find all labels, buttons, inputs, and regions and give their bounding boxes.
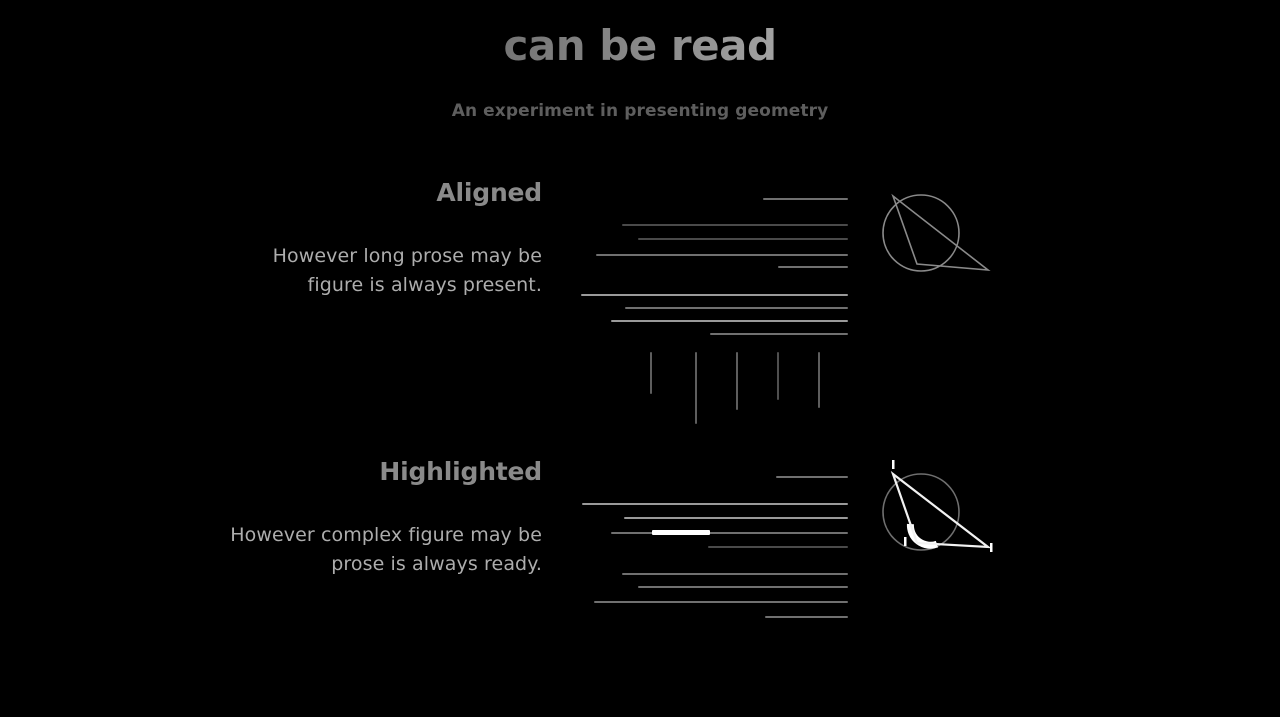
page-subtitle: An experiment in presenting geometry [0, 101, 1280, 121]
figure-highlighted [0, 457, 1280, 657]
figure-aligned [0, 178, 1280, 438]
triangle-shape [893, 474, 988, 547]
page-title: can be read [0, 23, 1280, 69]
circle-shape [883, 474, 959, 550]
vertex-tick-icon [892, 460, 895, 469]
circle-shape [883, 195, 959, 271]
figure-highlighted-svg [0, 457, 1280, 657]
slide-canvas: can be read An experiment in presenting … [0, 0, 1280, 640]
vertex-tick-icon [990, 543, 993, 552]
figure-aligned-svg [0, 178, 1280, 438]
vertex-tick-icon [904, 537, 907, 546]
triangle-shape [893, 196, 988, 270]
